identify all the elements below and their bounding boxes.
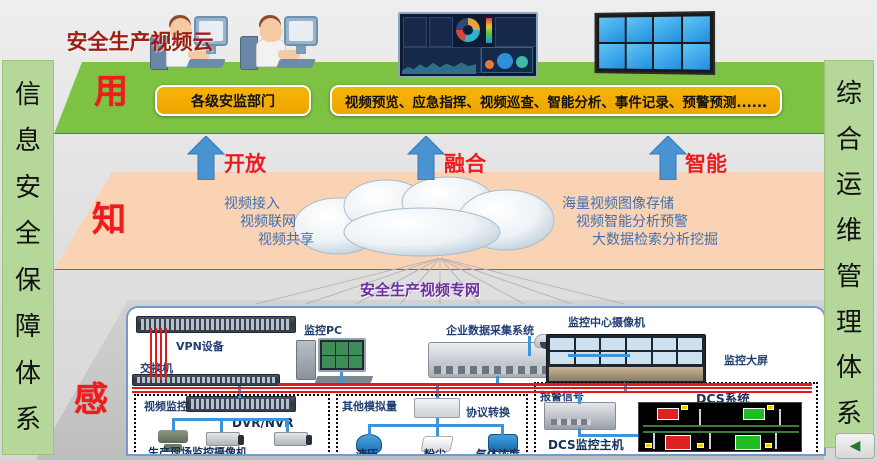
pillar-left-char-2: 安	[15, 175, 41, 201]
cloud-left-item-0: 视频接入	[140, 196, 280, 214]
pillar-left-char-1: 息	[15, 128, 41, 154]
arrow-label-smart: 智能	[685, 148, 727, 178]
supervision-departments-box[interactable]: 各级安监部门	[155, 85, 311, 116]
monitor-pc-label: 监控PC	[304, 322, 342, 338]
pillar-right-char-2: 运	[836, 172, 862, 198]
pillar-right-char-4: 管	[836, 264, 862, 290]
up-arrow-icon-fuse	[406, 136, 446, 180]
group-alarm-signal	[534, 382, 818, 456]
pc-keyboard-icon	[315, 376, 374, 383]
pc-monitor-icon	[318, 338, 366, 372]
pillar-information-security: 信 息 安 全 保 障 体 系	[2, 60, 54, 455]
control-room-icon	[546, 334, 706, 384]
arrow-label-fuse: 融合	[444, 148, 486, 178]
cloud-left-item-1: 视频联网	[140, 214, 296, 232]
pillar-right-char-5: 理	[836, 310, 862, 336]
pillar-right-char-0: 综	[836, 81, 862, 107]
corner-badge-icon[interactable]: ◀	[835, 433, 875, 459]
big-screen-label: 监控大屏	[724, 352, 768, 368]
group-video-surveillance	[134, 394, 330, 456]
group-other-analog	[336, 394, 528, 456]
diagram-canvas: 信 息 安 全 保 障 体 系 综 合 运 维 管 理 体 系 用 知 感	[0, 0, 877, 461]
analytics-dashboard-icon	[398, 12, 538, 78]
pillar-right-char-7: 系	[836, 401, 862, 427]
arrow-label-open: 开放	[224, 148, 266, 178]
application-functions-box[interactable]: 视频预览、应急指挥、视频巡查、智能分析、事件记录、预警预测......	[330, 85, 782, 116]
pillar-left-char-3: 全	[15, 221, 41, 247]
center-camera-label: 监控中心摄像机	[568, 314, 645, 330]
data-collection-label: 企业数据采集系统	[446, 322, 534, 338]
perception-device-panel: VPN设备 交换机 监控PC 企业数据采集系统 监控中心摄像机	[126, 306, 826, 456]
cloud-right-item-2: 大数据检索分析挖掘	[592, 232, 792, 250]
cloud-right-item-0: 海量视频图像存储	[562, 196, 792, 214]
tier-label-know: 知	[92, 192, 126, 241]
video-cloud-shape	[282, 176, 562, 258]
cloud-left-capabilities: 视频接入 视频联网 视频共享	[140, 196, 280, 250]
pillar-right-char-1: 合	[836, 127, 862, 153]
pillar-right-char-3: 维	[836, 218, 862, 244]
up-arrow-icon-open	[186, 136, 226, 180]
private-network-label: 安全生产视频专网	[360, 279, 480, 300]
tier-label-sense: 感	[74, 372, 108, 421]
cloud-left-item-2: 视频共享	[140, 232, 314, 250]
tier-label-use: 用	[94, 64, 128, 113]
cloud-right-capabilities: 海量视频图像存储 视频智能分析预警 大数据检索分析挖掘	[562, 196, 792, 250]
up-arrow-icon-smart	[648, 136, 688, 180]
vpn-label: VPN设备	[176, 338, 224, 354]
video-wall-icon	[594, 11, 715, 75]
pillar-left-char-6: 体	[15, 361, 41, 387]
cloud-right-item-1: 视频智能分析预警	[576, 214, 792, 232]
pillar-right-char-6: 体	[836, 355, 862, 381]
pillar-left-char-4: 保	[15, 268, 41, 294]
pillar-left-char-0: 信	[15, 82, 41, 108]
pillar-left-char-7: 系	[15, 407, 41, 433]
pillar-left-char-5: 障	[15, 314, 41, 340]
pc-tower-icon	[296, 340, 316, 380]
pillar-operations-management: 综 合 运 维 管 理 体 系	[824, 60, 874, 448]
